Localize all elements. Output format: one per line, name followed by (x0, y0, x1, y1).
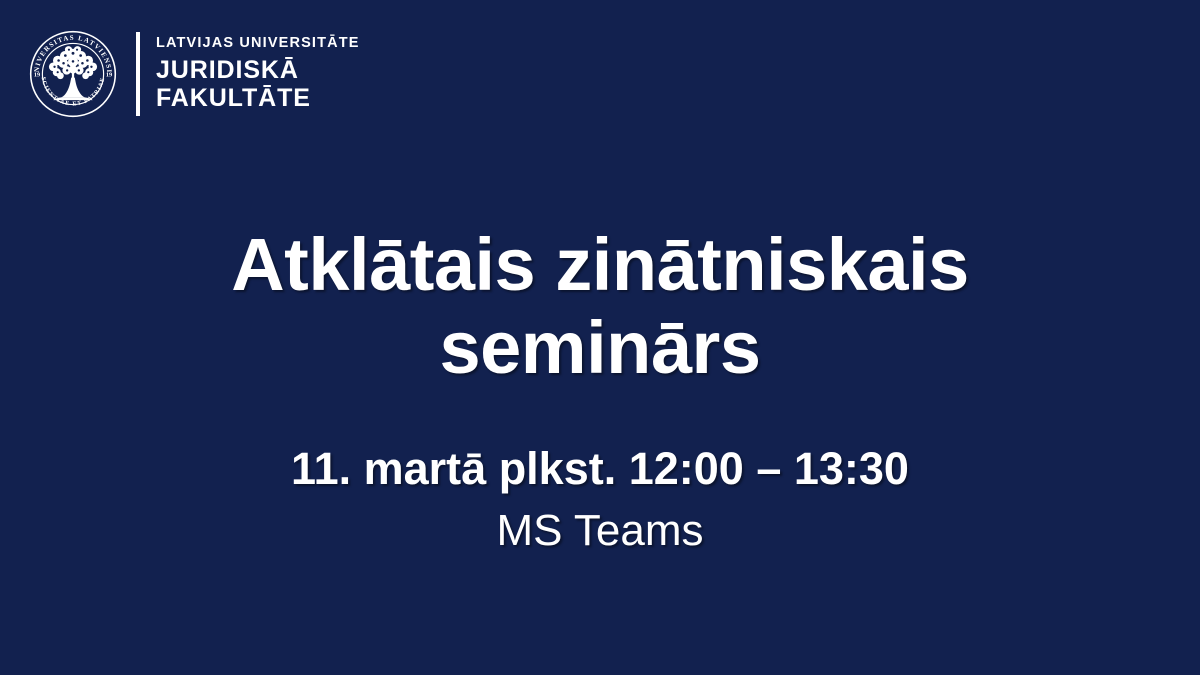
logo-lockup: UNIVERSITAS LATVIENSIS SCIENTIAE ET PATR… (28, 28, 360, 120)
svg-text:19: 19 (106, 72, 112, 79)
event-title-line-2: seminārs (0, 307, 1200, 390)
logo-text-block: LATVIJAS UNIVERSITĀTE JURIDISKĀ FAKULTĀT… (156, 36, 360, 113)
event-platform: MS Teams (0, 505, 1200, 558)
svg-text:19: 19 (34, 72, 40, 79)
presentation-slide: UNIVERSITAS LATVIENSIS SCIENTIAE ET PATR… (0, 0, 1200, 675)
event-title: Atklātais zinātniskais seminārs (0, 224, 1200, 390)
university-seal-icon: UNIVERSITAS LATVIENSIS SCIENTIAE ET PATR… (28, 29, 118, 119)
faculty-name-line-2: FAKULTĀTE (156, 84, 360, 112)
university-name: LATVIJAS UNIVERSITĀTE (156, 36, 360, 51)
event-datetime: 11. martā plkst. 12:00 – 13:30 (0, 442, 1200, 496)
faculty-name-line-1: JURIDISKĀ (156, 56, 360, 84)
event-title-line-1: Atklātais zinātniskais (0, 224, 1200, 307)
logo-divider (136, 32, 140, 116)
